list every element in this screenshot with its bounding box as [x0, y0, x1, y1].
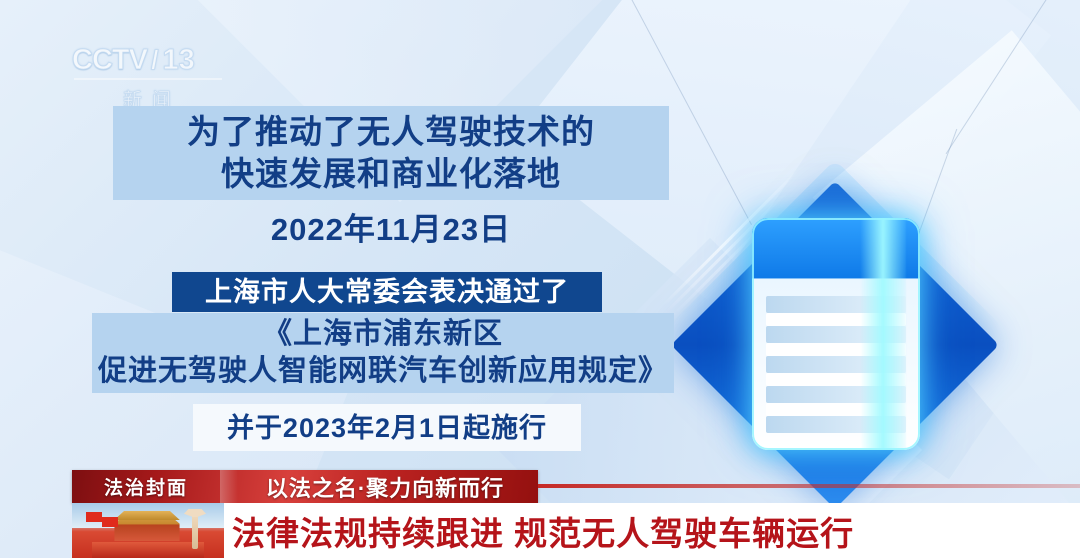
intro-line-2: 快速发展和商业化落地 [221, 154, 561, 194]
flag-icon [102, 517, 118, 527]
banner-accent-line [538, 484, 1080, 488]
document-emblem [666, 176, 1004, 514]
headline-bar: 法律法规持续跟进 规范无人驾驶车辆运行 [72, 503, 1080, 558]
logo-channel-number: 13 [162, 44, 194, 77]
program-tag: 法治封面 [72, 473, 220, 500]
effective-date-line: 并于2023年2月1日起施行 [227, 412, 547, 444]
broadcast-frame: CCTV / 13 新闻 为了推动了无人驾驶技术的 快速发展和商业化落地 202… [0, 0, 1080, 558]
flag-icon [86, 512, 102, 522]
intro-line-1: 为了推动了无人驾驶技术的 [187, 112, 595, 152]
tiananmen-base [92, 542, 204, 558]
logo-underline [74, 78, 222, 80]
regulation-line-1: 《上海市浦东新区 [263, 316, 503, 353]
cctv13-logo: CCTV / 13 新闻 [72, 40, 232, 106]
program-banner: 法治封面 以法之名·聚力向新而行 [72, 470, 538, 503]
intro-text-box: 为了推动了无人驾驶技术的 快速发展和商业化落地 [113, 106, 669, 200]
regulation-line-2: 促进无驾驶人智能网联汽车创新应用规定》 [98, 353, 668, 390]
tiananmen-illustration [72, 503, 224, 558]
logo-wordmark: CCTV / 13 [72, 40, 232, 80]
date-text: 2022年11月23日 [113, 210, 669, 250]
regulation-text-box: 《上海市浦东新区 促进无驾驶人智能网联汽车创新应用规定》 [92, 313, 674, 393]
logo-cctv-text: CCTV [72, 44, 147, 77]
document-icon [752, 218, 920, 450]
banner-divider [220, 470, 238, 503]
action-line: 上海市人大常委会表决通过了 [205, 276, 569, 308]
news-headline: 法律法规持续跟进 规范无人驾驶车辆运行 [232, 503, 854, 558]
document-icon-border [752, 218, 920, 450]
action-text-box: 上海市人大常委会表决通过了 [172, 272, 602, 312]
effective-date-box: 并于2023年2月1日起施行 [193, 404, 581, 451]
program-slogan: 以法之名·聚力向新而行 [238, 471, 538, 503]
logo-slash-icon: / [151, 45, 159, 76]
